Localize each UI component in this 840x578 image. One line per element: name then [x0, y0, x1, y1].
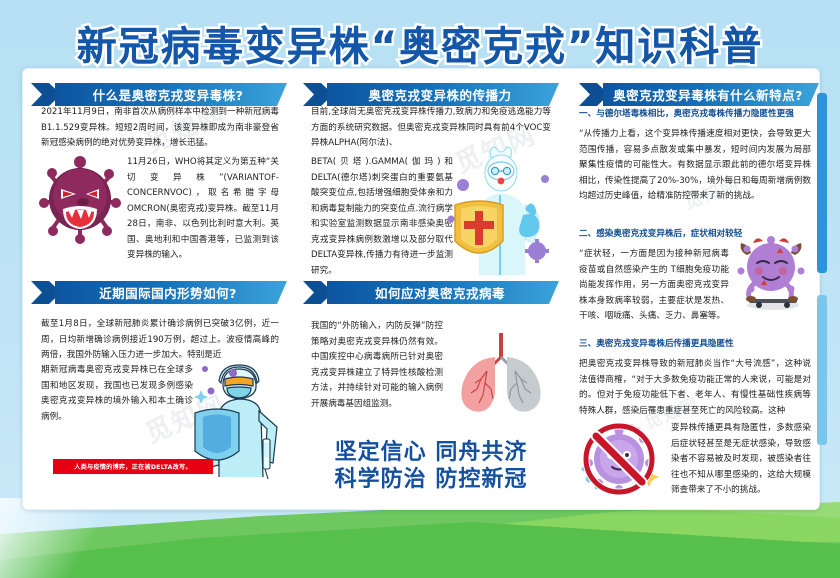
page-title-outline: 新冠病毒变异株“奥密克戎”知识科普 — [0, 14, 840, 72]
paragraph-feature-2: “症状轻，一方面是因为接种新冠病毒疫苗或自然感染产生的 T细胞免疫功能尚能发挥作… — [579, 247, 729, 325]
content-card: 觅知网 觅知网 觅知网 觅知网 觅知网 什么是奥密克戎变异毒株? 2021年11… — [22, 68, 820, 510]
paragraph-how-to-respond: 我国的“外防输入，内防反弹”防控策略对奥密克戎变异株仍然有效。中国疾控中心病毒病… — [311, 319, 443, 412]
banner-bar: 如何应对奥密克戎病毒 — [327, 281, 559, 304]
subheading-feature-1: 一、与德尔塔毒株相比，奥密克戎毒株传播力隐匿性更强 — [579, 107, 811, 122]
section-banner-current-situation: 近期国际国内形势如何? — [31, 281, 287, 304]
doctor-ppe-shield-icon — [445, 143, 557, 275]
banner-bar: 近期国际国内形势如何? — [55, 281, 287, 304]
paragraph-transmissibility-2: BETA(贝塔).GAMMA(伽玛)和DELTA(德尔塔)刺突蛋白的重要氨基酸突… — [311, 155, 453, 279]
section-heading: 奥密克戎变异毒株有什么新特点? — [613, 85, 809, 104]
banner-bar: 奥密克戎变异株的传播力 — [327, 83, 559, 106]
section-banner-transmissibility: 奥密克戎变异株的传播力 — [303, 83, 559, 106]
banner-bar: 奥密克戎变异毒株有什么新特点? — [603, 83, 819, 106]
paragraph-feature-3: 把奥密克戎变异株导致的新冠肺炎当作“大号流感”，这种说法值得商榷，“对于大多数免… — [579, 357, 811, 419]
paragraph-feature-1: “从传播力上看，这个变异株传播速度相对更快，会导致更大范围传播，容易多点散发或集… — [579, 127, 811, 205]
paragraph-what-is-omicron-1: 2021年11月9日，南非首次从病例样本中检测到一种新冠病毒B1.1.529变异… — [41, 105, 279, 152]
section-heading: 什么是奥密克戎变异毒株? — [93, 85, 250, 104]
background-left-glow — [0, 498, 120, 578]
column-three: 奥密克戎变异毒株有什么新特点? 一、与德尔塔毒株相比，奥密克戎毒株传播力隐匿性更… — [567, 69, 819, 509]
slogan-block: 坚定信心 同舟共济 科学防治 防控新冠 — [295, 439, 567, 493]
slogan-line-1: 坚定信心 同舟共济 — [295, 439, 567, 466]
devil-virus-skateboard-icon — [727, 229, 813, 315]
section-banner-new-features: 奥密克戎变异毒株有什么新特点? — [579, 83, 819, 106]
section-banner-how-to-respond: 如何应对奥密克戎病毒 — [303, 281, 559, 304]
column-one: 什么是奥密克戎变异毒株? 2021年11月9日，南非首次从病例样本中检测到一种新… — [23, 69, 295, 509]
section-heading: 如何应对奥密克戎病毒 — [375, 283, 511, 302]
angry-virus-icon — [39, 153, 121, 245]
paragraph-what-is-omicron-2: 11月26日，WHO将其定义为第五种“关切变异株”(VARIANTOF-CONC… — [127, 155, 279, 264]
section-heading: 奥密克戎变异株的传播力 — [368, 85, 517, 104]
paragraph-situation-2: 期新冠病毒奥密克戎变异株已在全球多国和地区发现，我国也已发现多例感染奥密克戎变异… — [41, 363, 193, 425]
section-heading: 近期国际国内形势如何? — [99, 283, 243, 302]
red-note-text: 人类与疫情的博弈，正在被DELTA改写。 — [74, 462, 192, 471]
stop-virus-icon — [579, 419, 663, 499]
section-banner-what-is-omicron: 什么是奥密克戎变异毒株? — [31, 83, 287, 106]
page-title-stroke: 新冠病毒变异株“奥密克戎”知识科普 — [77, 14, 764, 72]
red-note-banner: 人类与疫情的博弈，正在被DELTA改写。 — [53, 459, 213, 474]
slogan-line-2: 科学防治 防控新冠 — [295, 466, 567, 493]
paragraph-feature-3-continued: 变异株传播更具有隐匿性，多数感染后症状轻甚至是无症状感染，导致感染者不容易被及时… — [671, 421, 811, 499]
subheading-feature-3: 三、奥密克戎变异毒株后传播更具隐匿性 — [579, 337, 811, 352]
column-two: 奥密克戎变异株的传播力 目前,全球尚无奥密克戎变异株传播力,致病力和免疫逃逸能力… — [295, 69, 567, 509]
lungs-icon — [451, 327, 555, 419]
banner-bar: 什么是奥密克戎变异毒株? — [55, 83, 287, 106]
